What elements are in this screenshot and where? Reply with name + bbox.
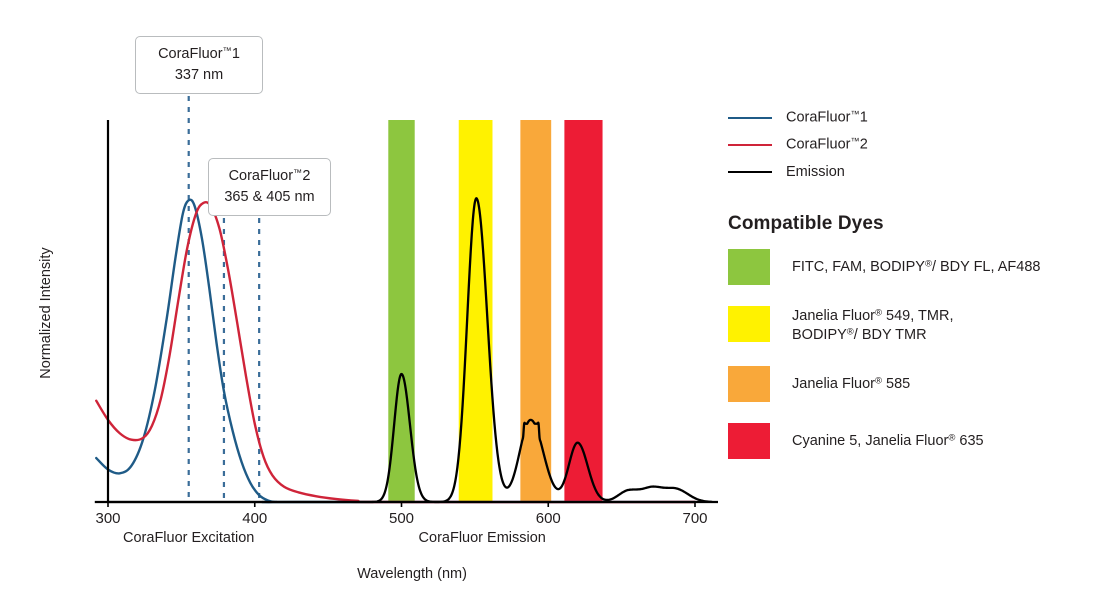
- x-region-label-emission: CoraFluor Emission: [352, 530, 612, 546]
- callout-1-line2: 337 nm: [148, 65, 250, 86]
- x-region-label-excitation: CoraFluor Excitation: [59, 530, 319, 546]
- series-legend-label: CoraFluor™2: [786, 136, 868, 153]
- trademark-mark: ™: [850, 109, 859, 119]
- dye-label-line: Janelia Fluor® 549, TMR,: [792, 307, 953, 326]
- callout-corafluor-2: CoraFluor™2 365 & 405 nm: [208, 158, 331, 216]
- series-legend-row-2: Emission: [728, 158, 1098, 185]
- callout-2-line1: CoraFluor™2: [221, 166, 318, 187]
- dye-label-line: Cyanine 5, Janelia Fluor® 635: [792, 432, 984, 451]
- registered-mark: ®: [875, 376, 882, 387]
- dye-label-line: FITC, FAM, BODIPY®/ BDY FL, AF488: [792, 258, 1040, 277]
- registered-mark: ®: [875, 307, 882, 318]
- dye-row-0: FITC, FAM, BODIPY®/ BDY FL, AF488: [728, 249, 1098, 285]
- dye-row-3: Cyanine 5, Janelia Fluor® 635: [728, 423, 1098, 459]
- series-legend-row-0: CoraFluor™1: [728, 104, 1098, 131]
- figure-root: CoraFluor™1 337 nm CoraFluor™2 365 & 405…: [0, 0, 1110, 612]
- x-tick-label-500: 500: [372, 510, 432, 527]
- compatible-dyes-heading: Compatible Dyes: [728, 213, 1098, 235]
- x-tick-label-600: 600: [518, 510, 578, 527]
- series-legend-label: Emission: [786, 164, 845, 180]
- x-tick-label-700: 700: [665, 510, 725, 527]
- spectra-chart: CoraFluor™1 337 nm CoraFluor™2 365 & 405…: [0, 0, 730, 612]
- dye-label: Janelia Fluor® 549, TMR,BODIPY®/ BDY TMR: [792, 306, 953, 345]
- legend-panel: CoraFluor™1CoraFluor™2Emission Compatibl…: [728, 104, 1098, 480]
- dye-label-line: Janelia Fluor® 585: [792, 375, 910, 394]
- compatible-dyes-list: FITC, FAM, BODIPY®/ BDY FL, AF488Janelia…: [728, 249, 1098, 459]
- dye-label-line: BODIPY®/ BDY TMR: [792, 326, 953, 345]
- series-legend-line-swatch: [728, 171, 772, 173]
- dye-label: Cyanine 5, Janelia Fluor® 635: [792, 423, 984, 451]
- series-legend: CoraFluor™1CoraFluor™2Emission: [728, 104, 1098, 185]
- orange-band: [520, 120, 551, 502]
- dye-color-swatch: [728, 366, 770, 402]
- registered-mark: ®: [948, 433, 955, 444]
- x-axis-title: Wavelength (nm): [0, 566, 824, 582]
- callout-corafluor-1: CoraFluor™1 337 nm: [135, 36, 263, 94]
- x-tick-label-400: 400: [225, 510, 285, 527]
- series-legend-line-swatch: [728, 144, 772, 146]
- y-axis-title: Normalized Intensity: [38, 223, 54, 403]
- series-legend-row-1: CoraFluor™2: [728, 131, 1098, 158]
- dye-color-swatch: [728, 423, 770, 459]
- dye-label: FITC, FAM, BODIPY®/ BDY FL, AF488: [792, 249, 1040, 277]
- dye-color-swatch: [728, 249, 770, 285]
- red-band: [564, 120, 602, 502]
- dye-row-1: Janelia Fluor® 549, TMR,BODIPY®/ BDY TMR: [728, 306, 1098, 345]
- trademark-mark: ™: [850, 136, 859, 146]
- dye-label: Janelia Fluor® 585: [792, 366, 910, 394]
- dye-row-2: Janelia Fluor® 585: [728, 366, 1098, 402]
- callout-2-line2: 365 & 405 nm: [221, 187, 318, 208]
- series-legend-line-swatch: [728, 117, 772, 119]
- callout-1-line1: CoraFluor™1: [148, 44, 250, 65]
- series-legend-label: CoraFluor™1: [786, 109, 868, 126]
- registered-mark: ®: [847, 326, 854, 337]
- dye-color-swatch: [728, 306, 770, 342]
- x-tick-label-300: 300: [78, 510, 138, 527]
- registered-mark: ®: [925, 258, 932, 269]
